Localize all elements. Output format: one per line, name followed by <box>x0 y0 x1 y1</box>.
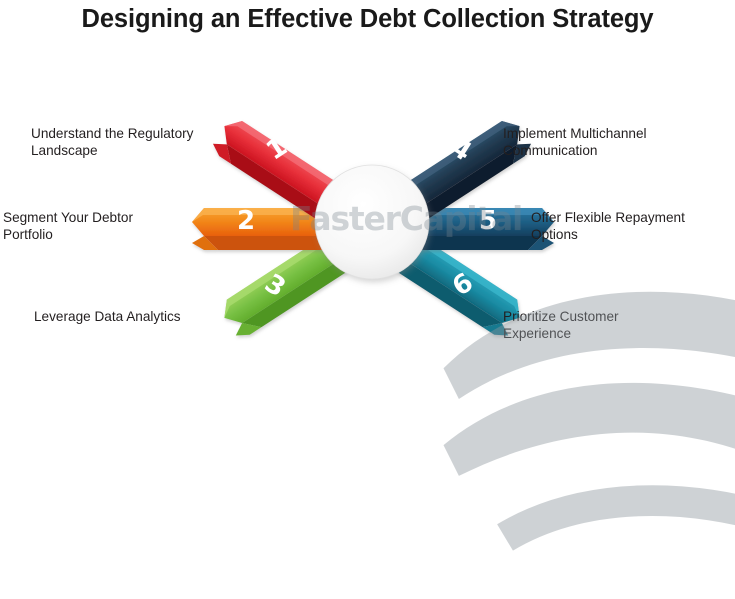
arrow-number-2: 2 <box>233 208 259 234</box>
step-label-5: Offer Flexible Repayment Options <box>531 210 735 243</box>
infographic-canvas: Designing an Effective Debt Collection S… <box>0 0 735 400</box>
step-label-6: Prioritize Customer Experience <box>503 309 729 342</box>
step-label-3: Leverage Data Analytics <box>34 309 249 326</box>
step-label-1: Understand the Regulatory Landscape <box>31 126 246 159</box>
center-circle <box>315 165 429 279</box>
step-label-4: Implement Multichannel Communication <box>503 126 729 159</box>
radial-diagram: 1 2 3 4 5 6 Understand the Regulatory La… <box>0 0 735 400</box>
arrow-number-5: 5 <box>475 208 501 234</box>
step-label-2: Segment Your Debtor Portfolio <box>3 210 218 243</box>
